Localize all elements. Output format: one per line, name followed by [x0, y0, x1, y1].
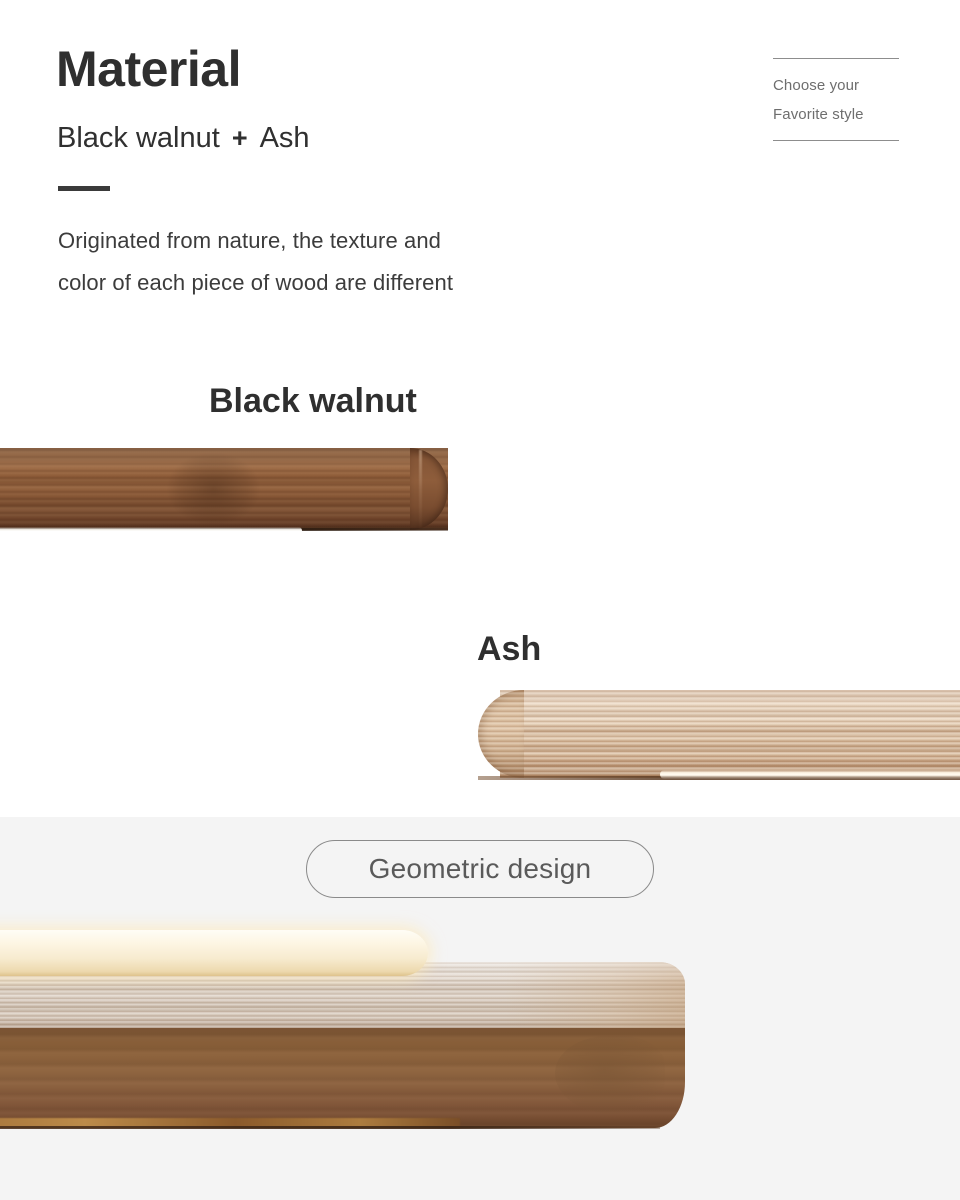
- walnut-end-cap-seam: [419, 450, 422, 528]
- material-subtitle: Black walnut+Ash: [57, 124, 310, 153]
- lamp-side-face: [0, 1028, 685, 1128]
- style-note: Choose your Favorite style: [773, 58, 899, 141]
- material-name-ash: Ash: [260, 122, 310, 154]
- title-divider: [58, 186, 110, 191]
- ash-light-strip: [660, 770, 960, 779]
- lamp-side-knot: [555, 1036, 665, 1114]
- plus-icon: +: [220, 123, 260, 153]
- ash-end-cap-grain: [478, 690, 524, 778]
- style-note-rule-bottom: [773, 140, 899, 141]
- product-label-ash: Ash: [477, 632, 541, 666]
- ash-wood-face: [500, 690, 960, 778]
- walnut-wood-face: [0, 448, 448, 530]
- feature-lamp-image: [0, 962, 685, 1128]
- walnut-highlight: [0, 448, 448, 476]
- ash-end-cap: [478, 690, 524, 778]
- geometric-design-badge-label: Geometric design: [369, 855, 592, 883]
- material-description: Originated from nature, the texture and …: [58, 220, 453, 304]
- style-note-line1: Choose your: [773, 71, 899, 100]
- style-note-text: Choose your Favorite style: [773, 59, 899, 140]
- lamp-light-diffuser: [0, 930, 428, 976]
- material-description-line2: color of each piece of wood are differen…: [58, 262, 453, 304]
- product-label-black-walnut: Black walnut: [209, 384, 417, 418]
- ash-lamp-image: [478, 690, 960, 778]
- walnut-light-strip: [0, 527, 302, 534]
- lamp-bottom-edge: [0, 1126, 660, 1129]
- geometric-design-section: Geometric design: [0, 817, 960, 1200]
- material-name-walnut: Black walnut: [57, 122, 220, 154]
- material-description-line1: Originated from nature, the texture and: [58, 220, 453, 262]
- page-title: Material: [56, 44, 241, 94]
- walnut-lamp-image: [0, 448, 478, 530]
- material-section: Material Black walnut+Ash Originated fro…: [0, 0, 960, 817]
- style-note-line2: Favorite style: [773, 100, 899, 129]
- ash-highlight: [500, 690, 960, 730]
- geometric-design-badge: Geometric design: [306, 840, 654, 898]
